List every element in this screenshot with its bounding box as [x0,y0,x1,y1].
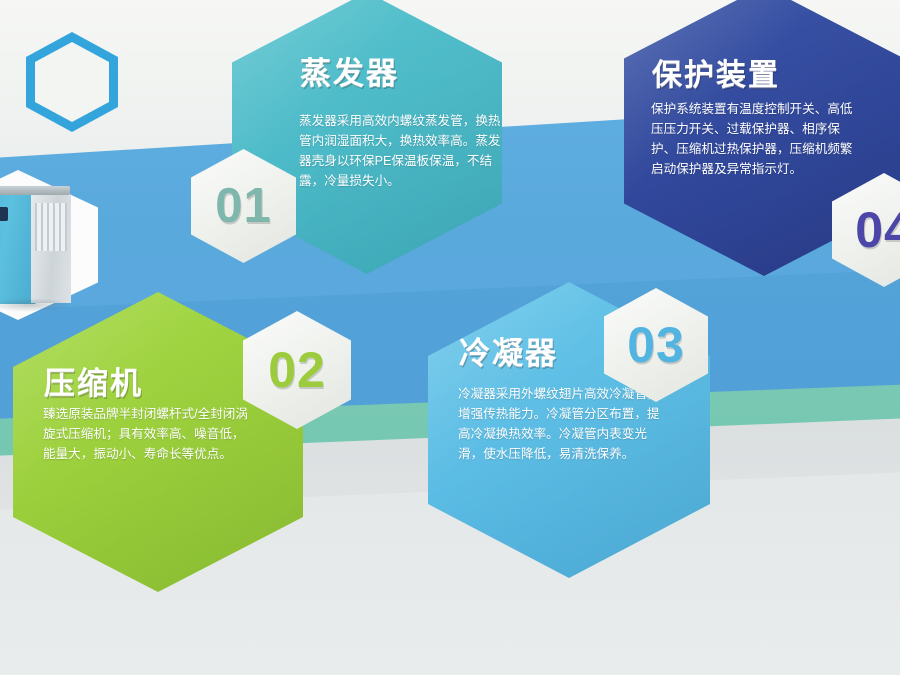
panel-evaporator-title: 蒸发器 [300,48,399,93]
chiller-unit-photo [0,170,98,320]
panel-condenser-body: 冷凝器采用外螺纹翅片高效冷凝管，增强传热能力。冷凝管分区布置，提高冷凝换热效率。… [458,385,668,465]
panel-condenser-title: 冷凝器 [459,328,558,373]
chiller-brand-plate [0,207,8,221]
panel-protection-title: 保护装置 [652,50,780,94]
panel-compressor-title: 压缩机 [44,358,143,403]
panel-compressor-body: 臻选原装品牌半封闭螺杆式/全封闭涡旋式压缩机；具有效率高、噪音低，能量大，振动小… [43,405,253,465]
panel-compressor-number: 02 [268,341,326,399]
panel-protection-body: 保护系统装置有温度控制开关、高低压压力开关、过载保护器、相序保护、压缩机过热保护… [651,100,856,180]
chiller-shadow [0,298,72,312]
panel-protection-number: 04 [855,201,900,259]
panel-condenser-number: 03 [627,316,685,374]
panel-evaporator-body: 蒸发器采用高效内螺纹蒸发管，换热管内润湿面积大，换热效率高。蒸发器壳身以环保PE… [299,112,504,192]
panel-evaporator-number: 01 [215,178,272,234]
chiller-top-fan [0,186,70,195]
chiller-grill [35,203,67,251]
wall-display-scene: 蒸发器 蒸发器采用高效内螺纹蒸发管，换热管内润湿面积大，换热效率高。蒸发器壳身以… [0,0,900,675]
